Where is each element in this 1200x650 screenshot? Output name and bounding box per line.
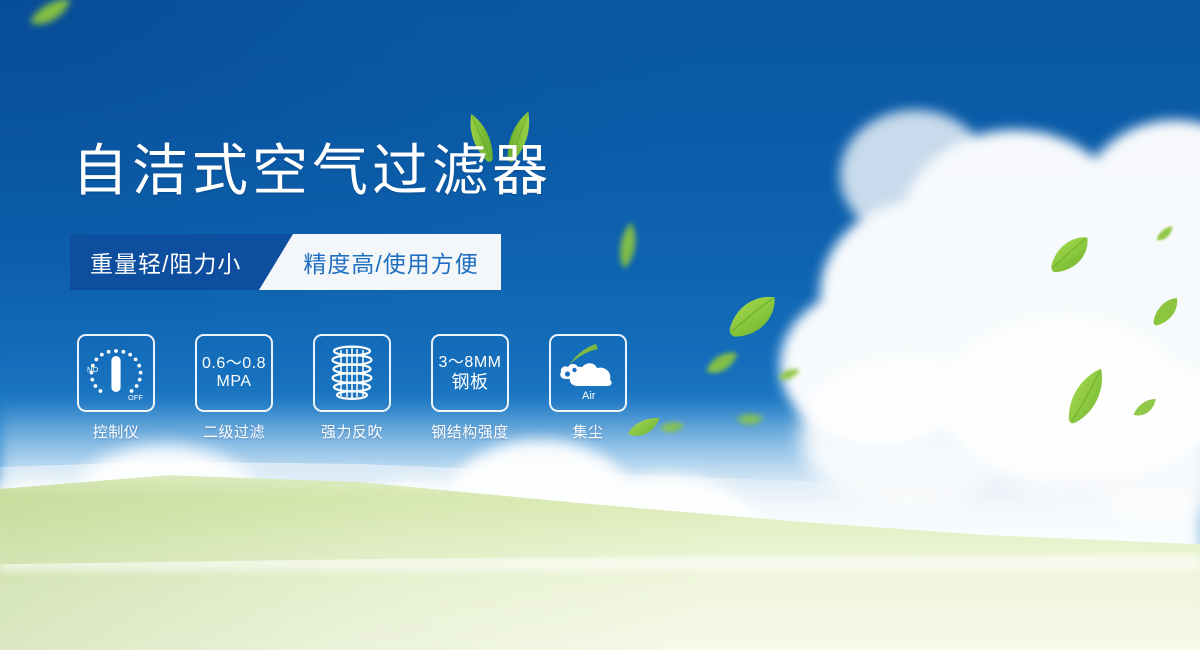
floating-leaf-icon (777, 367, 800, 382)
page-title: 自洁式空气过滤器 (72, 143, 552, 199)
product-hero-banner: 自洁式空气过滤器 重量轻/阻力小 精度高/使用方便 (0, 0, 1200, 650)
dial-off-label: OFF (128, 393, 143, 402)
feature-label: 强力反吹 (321, 421, 383, 442)
pressure-text-icon: 0.6～0.8 MPA (195, 334, 273, 412)
feature-item-control-dial[interactable]: NO OFF 控制仪 (70, 334, 162, 442)
feature-label: 集尘 (572, 421, 603, 442)
feature-label: 二级过滤 (203, 421, 265, 442)
control-dial-icon: NO OFF (77, 334, 155, 412)
filter-cartridge-icon (313, 334, 391, 412)
feature-label: 钢结构强度 (431, 421, 509, 442)
subtitle-right-text: 精度高/使用方便 (293, 234, 500, 290)
feature-icon-row: NO OFF 控制仪 0.6～0.8 MPA 二级过滤 (70, 334, 634, 442)
feature-item-dust-collection[interactable]: Air 集尘 (542, 334, 634, 442)
pressure-range: 0.6～0.8 (202, 355, 266, 373)
air-label: Air (582, 390, 596, 402)
steel-plate-label: 钢板 (439, 372, 502, 392)
feature-item-steel-strength[interactable]: 3～8MM 钢板 钢结构强度 (424, 334, 516, 442)
pressure-unit: MPA (202, 373, 266, 391)
feature-item-two-stage-filter[interactable]: 0.6～0.8 MPA 二级过滤 (188, 334, 280, 442)
subtitle-divider-wedge (259, 234, 293, 290)
feature-label: 控制仪 (93, 421, 140, 442)
steel-text-icon: 3～8MM 钢板 (431, 334, 509, 412)
steel-thickness: 3～8MM (439, 354, 502, 372)
dial-on-label: NO (87, 365, 98, 374)
feature-item-reverse-blow[interactable]: 强力反吹 (306, 334, 398, 442)
subtitle-bar: 重量轻/阻力小 精度高/使用方便 (70, 234, 501, 290)
subtitle-left-text: 重量轻/阻力小 (70, 234, 259, 290)
air-cloud-icon: Air (549, 334, 627, 412)
